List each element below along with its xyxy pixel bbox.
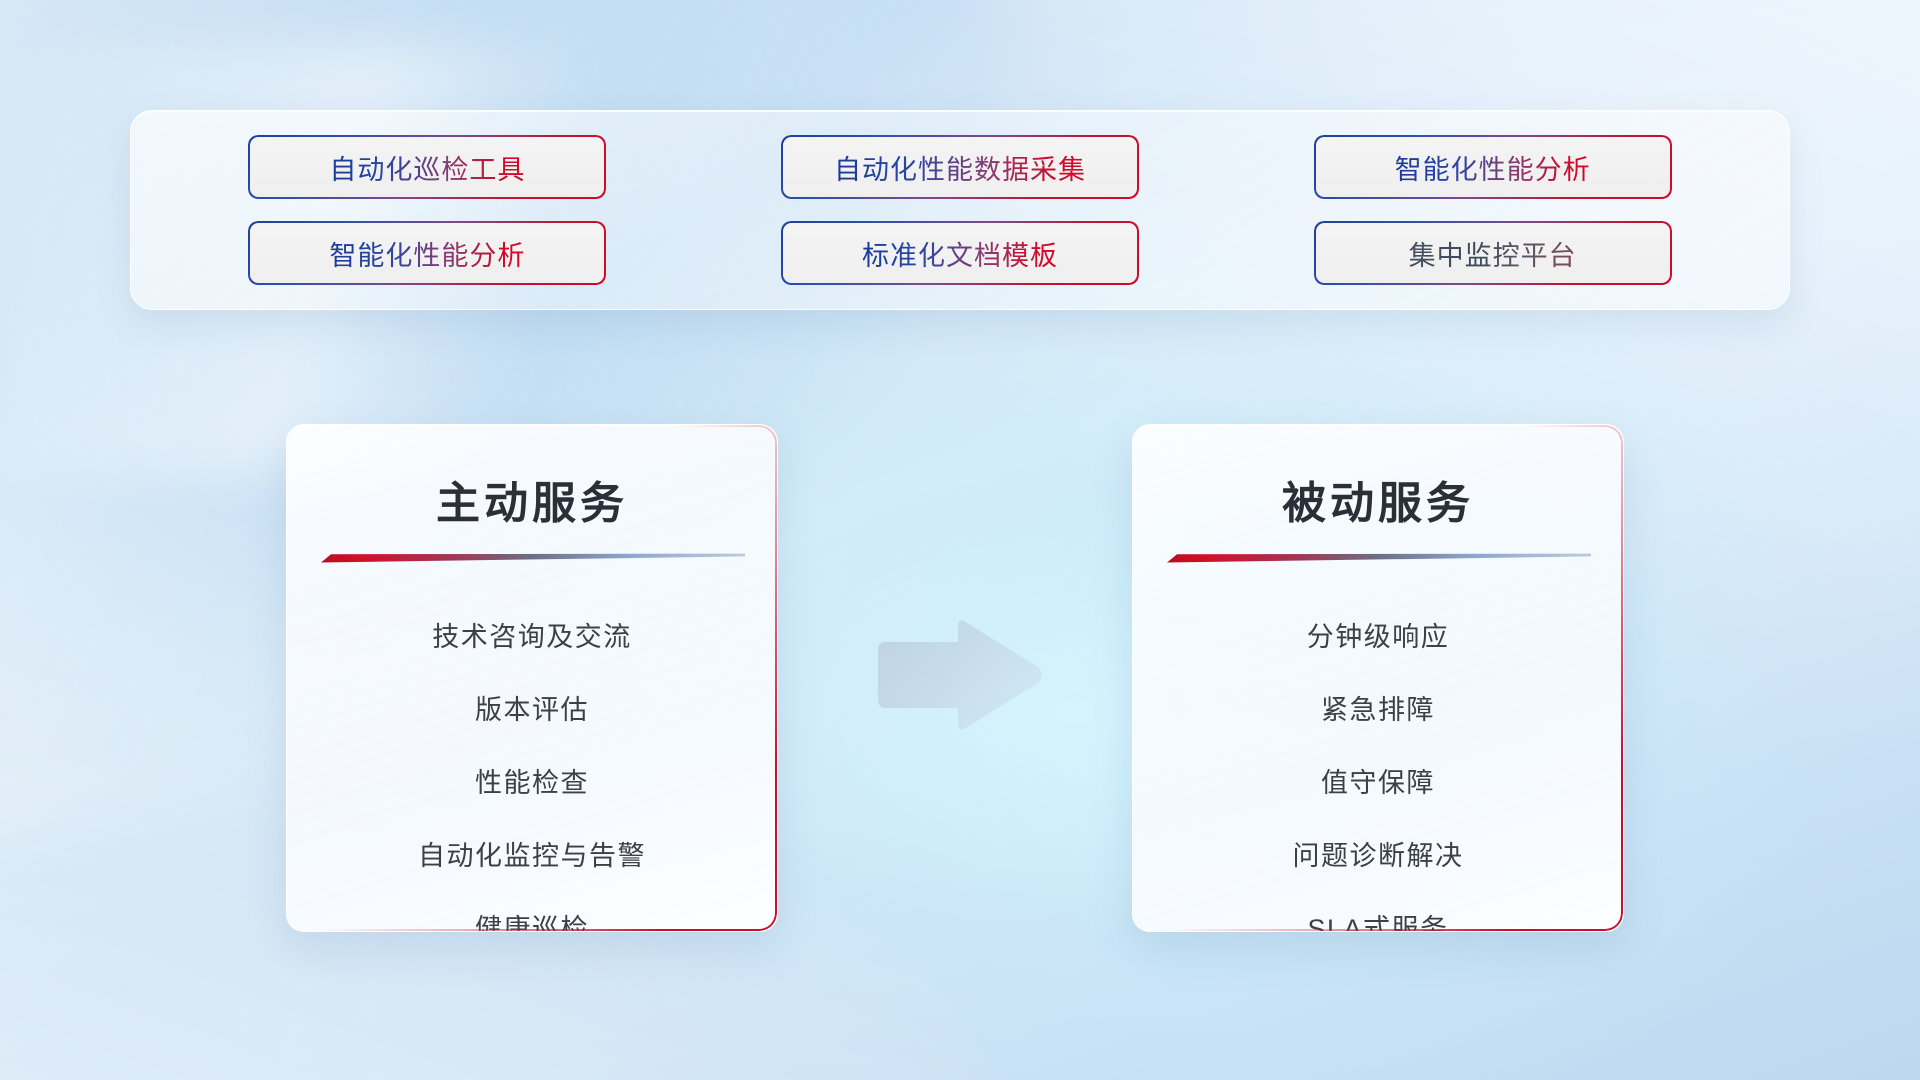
list-item: SLA式服务 (1133, 893, 1623, 932)
capability-pill-label: 集中监控平台 (1409, 234, 1577, 273)
list-item: 自动化监控与告警 (287, 820, 777, 893)
list-item: 健康巡检 (287, 893, 777, 932)
capability-pill-label: 标准化文档模板 (862, 234, 1058, 273)
service-card-title: 主动服务 (287, 467, 777, 531)
service-card-list: 分钟级响应 紧急排障 值守保障 问题诊断解决 SLA式服务 (1133, 601, 1623, 932)
capability-pill-grid: 自动化巡检工具 自动化性能数据采集 智能化性能分析 智能化性能分析 标准化文档模… (131, 111, 1789, 309)
list-item: 分钟级响应 (1133, 601, 1623, 674)
title-divider-icon (1167, 553, 1591, 565)
capability-pill-label: 自动化巡检工具 (329, 148, 525, 187)
service-card-list: 技术咨询及交流 版本评估 性能检查 自动化监控与告警 健康巡检 (287, 601, 777, 932)
list-item: 技术咨询及交流 (287, 601, 777, 674)
list-item: 值守保障 (1133, 747, 1623, 820)
capability-pill-1[interactable]: 自动化性能数据采集 (781, 135, 1139, 199)
capability-pill-panel: 自动化巡检工具 自动化性能数据采集 智能化性能分析 智能化性能分析 标准化文档模… (130, 110, 1790, 310)
service-card-passive: 被动服务 分钟级响应 紧急排障 值守保障 问题诊断解决 SLA式服务 (1132, 424, 1624, 932)
service-card-active: 主动服务 技术咨询及交流 版本评估 性能检查 自动化监控与告警 健康巡检 (286, 424, 778, 932)
service-card-title: 被动服务 (1133, 467, 1623, 531)
capability-pill-label: 智能化性能分析 (329, 234, 525, 273)
flow-arrow-right-icon (874, 614, 1046, 736)
list-item: 问题诊断解决 (1133, 820, 1623, 893)
capability-pill-2[interactable]: 智能化性能分析 (1314, 135, 1672, 199)
capability-pill-4[interactable]: 标准化文档模板 (781, 221, 1139, 285)
list-item: 性能检查 (287, 747, 777, 820)
capability-pill-label: 智能化性能分析 (1395, 148, 1591, 187)
capability-pill-3[interactable]: 智能化性能分析 (248, 221, 606, 285)
list-item: 版本评估 (287, 674, 777, 747)
list-item: 紧急排障 (1133, 674, 1623, 747)
capability-pill-label: 自动化性能数据采集 (834, 148, 1086, 187)
capability-pill-0[interactable]: 自动化巡检工具 (248, 135, 606, 199)
capability-pill-5[interactable]: 集中监控平台 (1314, 221, 1672, 285)
title-divider-icon (321, 553, 745, 565)
